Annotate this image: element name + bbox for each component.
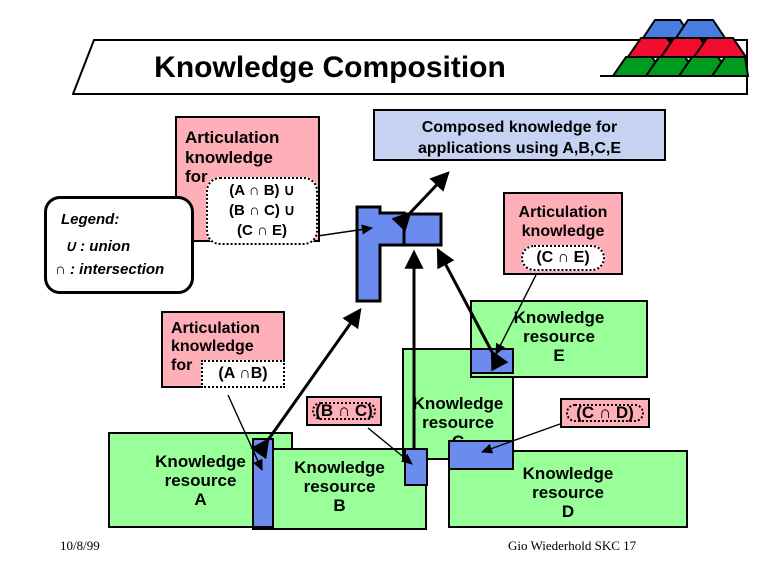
footer-date: 10/8/99 bbox=[60, 538, 100, 554]
resource-a-line2: resource bbox=[165, 471, 237, 490]
resource-c-line1: Knowledge bbox=[413, 394, 504, 413]
art-top-expr3: (C ∩ E) bbox=[237, 221, 287, 241]
resource-e-line3: E bbox=[553, 346, 564, 365]
art-right-line2: knowledge bbox=[522, 223, 605, 240]
resource-b-line2: resource bbox=[304, 477, 376, 496]
page-title: Knowledge Composition bbox=[110, 48, 550, 88]
art-top-line1: Articulation bbox=[185, 128, 279, 147]
label-cd-text: (C ∩ D) bbox=[566, 404, 644, 422]
slide-canvas: Knowledge Composition Knowledge resource… bbox=[0, 0, 768, 576]
resource-c-line2: resource bbox=[422, 413, 494, 432]
arrow-composed-double bbox=[410, 173, 448, 213]
resource-d-line1: Knowledge bbox=[523, 464, 614, 483]
resource-d-line3: D bbox=[562, 502, 574, 521]
overlap-ce bbox=[470, 348, 514, 374]
overlap-bc bbox=[404, 448, 428, 486]
resource-e-line2: resource bbox=[523, 327, 595, 346]
composed-line2: applications using A,B,C,E bbox=[418, 140, 621, 157]
art-mid-line2: knowledge bbox=[171, 338, 254, 355]
resource-box-b[interactable]: Knowledge resource B bbox=[252, 448, 427, 530]
overlap-ab bbox=[252, 438, 274, 528]
articulation-right-expression: (C ∩ E) bbox=[521, 245, 605, 271]
art-mid-line3: for bbox=[171, 357, 192, 374]
legend-union: ∪ : union bbox=[65, 237, 130, 255]
resource-b-line1: Knowledge bbox=[294, 458, 385, 477]
overlap-cd bbox=[448, 440, 514, 470]
art-top-line3: for bbox=[185, 167, 208, 186]
articulation-top-expression: (A ∩ B) ∪ (B ∩ C) ∪ (C ∩ E) bbox=[206, 177, 318, 245]
articulation-mid-expression: (A ∩B) bbox=[201, 360, 285, 388]
resource-a-line3: A bbox=[194, 490, 206, 509]
art-top-expr2: (B ∩ C) ∪ bbox=[229, 201, 295, 221]
art-right-line1: Articulation bbox=[519, 204, 608, 221]
resource-e-line1: Knowledge bbox=[514, 308, 605, 327]
resource-d-line2: resource bbox=[532, 483, 604, 502]
art-top-line2: knowledge bbox=[185, 148, 273, 167]
art-top-expr1: (A ∩ B) ∪ bbox=[229, 181, 294, 201]
label-bc-text: (B ∩ C) bbox=[312, 402, 376, 420]
legend-intersection: ∩ : intersection bbox=[55, 261, 164, 278]
footer-credit: Gio Wiederhold SKC 17 bbox=[508, 538, 636, 554]
label-c-intersect-d: (C ∩ D) bbox=[560, 398, 650, 428]
resource-a-line1: Knowledge bbox=[155, 452, 246, 471]
art-mid-line1: Articulation bbox=[171, 320, 260, 337]
resource-b-line3: B bbox=[333, 496, 345, 515]
legend-box: Legend: ∪ : union ∩ : intersection bbox=[44, 196, 194, 294]
label-b-intersect-c: (B ∩ C) bbox=[306, 396, 382, 426]
legend-title: Legend: bbox=[61, 211, 119, 228]
composed-line1: Composed knowledge for bbox=[422, 119, 618, 136]
composed-knowledge-box[interactable]: Composed knowledge for applications usin… bbox=[373, 109, 666, 161]
